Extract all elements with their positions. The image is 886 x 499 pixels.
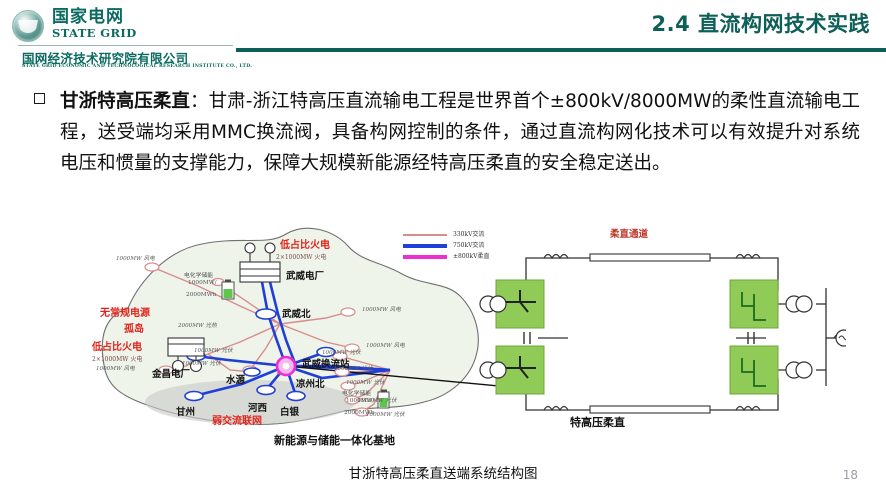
map-gen-label: 1000MW 风电 — [96, 364, 135, 372]
map-annotation-thermal-cap-top: 2×1000MW 火电 — [276, 252, 326, 261]
map-gen-label: 2000MW 光热 — [178, 321, 217, 329]
map-gen-label: 1000MW 风电 — [116, 254, 155, 262]
state-grid-logo: 国家电网 STATE GRID — [12, 8, 252, 44]
map-annotation-low-thermal-top: 低占比火电 — [280, 236, 330, 251]
map-annotation-low-thermal-left: 低占比火电 — [92, 338, 142, 353]
paragraph-lead: 甘浙特高压柔直 — [60, 91, 190, 112]
map-gen-label: 1000MW 光伏 — [322, 348, 361, 356]
page-number: 18 — [843, 468, 858, 482]
legend-swatch-750kv — [403, 244, 447, 248]
body-text-block: 甘浙特高压柔直：甘肃-浙江特高压直流输电工程是世界首个±800kV/8000MW… — [34, 86, 860, 179]
map-storage-power: 1000MW/ — [346, 398, 375, 404]
map-gen-label: 1000MW 风电 — [362, 305, 401, 313]
paragraph-colon: ： — [190, 91, 209, 112]
map-base-label: 新能源与储能一体化基地 — [274, 432, 395, 448]
state-grid-emblem-icon — [12, 10, 44, 42]
circuit-footer-label: 特高压柔直 — [570, 414, 625, 430]
legend-swatch-330kv — [403, 234, 447, 236]
bullet-square-icon — [34, 93, 45, 104]
map-storage-title: 电化学储能 — [342, 388, 371, 397]
map-annotation-weak-ac: 弱交流联网 — [212, 412, 262, 427]
map-annotation-thermal-cap-left: 2×1000MW 火电 — [92, 354, 142, 363]
map-storage-title: 电化学储能 — [184, 270, 213, 279]
map-node-wuwei-converter: 武威换流站 — [302, 356, 350, 370]
figure-caption: 甘浙特高压柔直送端系统结构图 — [0, 462, 886, 482]
legend-swatch-800kv — [403, 255, 447, 259]
map-storage-power: 1000MW/ — [188, 280, 217, 286]
logo-english-name: STATE GRID — [52, 27, 137, 39]
map-storage-energy: 2000MWh — [186, 292, 216, 298]
circuit-channel-label: 柔直通道 — [610, 226, 648, 240]
map-gen-label: 1000MW 光伏 — [346, 378, 385, 386]
map-node-shuiyuan: 水源 — [226, 372, 245, 386]
institute-english-name: STATE GRID ECONOMIC AND TECHNOLOGICAL RE… — [22, 64, 252, 69]
map-gen-label: 1000MW 光伏 — [194, 346, 233, 354]
figure-diagram: 1000MW 风电 1000MW 风电 1000MW 风电 1000MW 风电 … — [40, 218, 846, 458]
circuit-svg — [478, 228, 846, 438]
map-node-jinchang-plant: 金昌电厂 — [152, 366, 190, 380]
header-rule — [236, 48, 886, 52]
map-annotation-island-line2: 孤岛 — [124, 320, 144, 335]
map-node-wuwei-bei: 武威北 — [282, 306, 311, 320]
map-annotation-island-line1: 无常规电源 — [100, 304, 150, 319]
map-node-ganzhou: 甘州 — [176, 404, 195, 418]
map-node-liangzhoubei: 凉州北 — [296, 376, 325, 390]
map-node-baiyin: 白银 — [280, 404, 299, 418]
section-title: 2.4 直流构网技术实践 — [651, 8, 870, 38]
paragraph: 甘浙特高压柔直：甘肃-浙江特高压直流输电工程是世界首个±800kV/8000MW… — [34, 86, 860, 179]
logo-divider — [18, 45, 233, 46]
slide: 国家电网 STATE GRID 国网经济技术研究院有限公司 STATE GRID… — [0, 0, 886, 499]
map-storage-energy: 2000MWh — [344, 410, 374, 416]
map-node-wuwei-plant: 武威电厂 — [286, 268, 324, 282]
logo-chinese-name: 国家电网 — [52, 8, 124, 26]
map-gen-label: 1000MW 风电 — [366, 341, 405, 349]
circuit-panel: 柔直通道 — [478, 228, 846, 438]
